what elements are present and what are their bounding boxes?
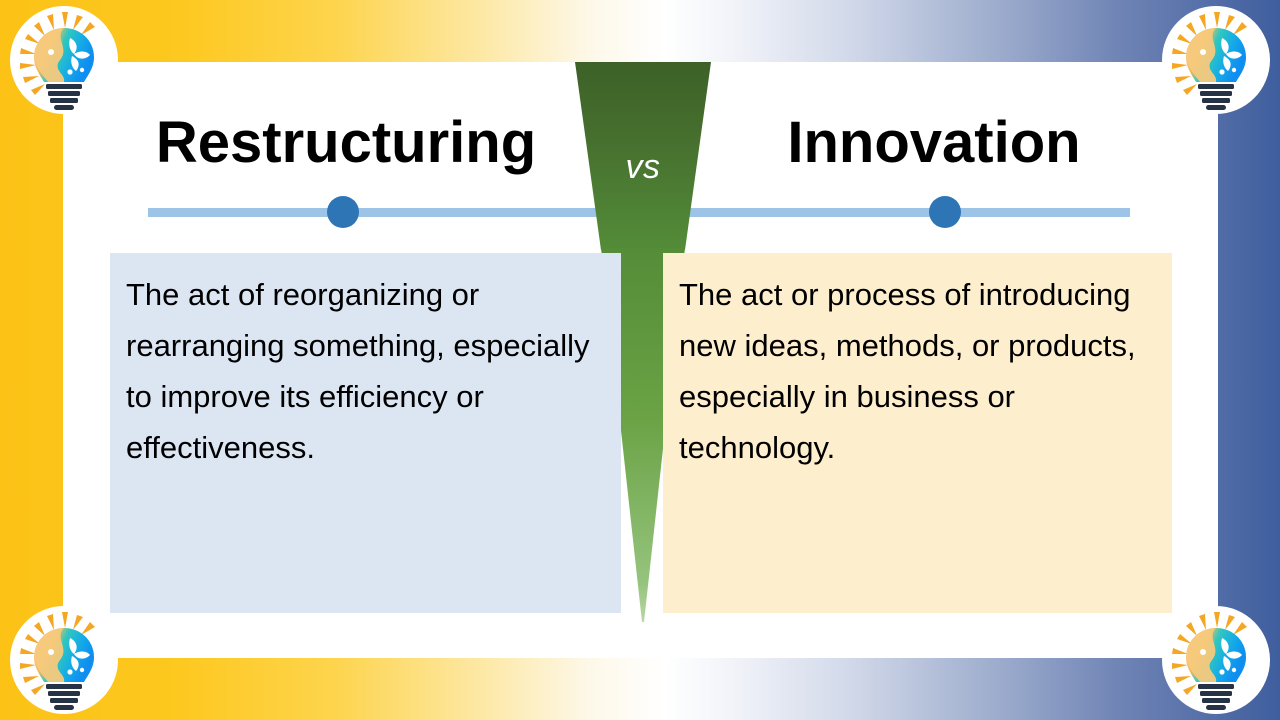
definition-box-right: The act or process of introducing new id… [663, 253, 1172, 613]
page-title-left: Restructuring [96, 108, 596, 178]
definition-text-right: The act or process of introducing new id… [679, 269, 1154, 473]
vs-label: vs [573, 150, 713, 184]
divider-dot-right [929, 196, 961, 228]
slide-canvas: Restructuring Innovation vs The act of r… [0, 0, 1280, 720]
lightbulb-sun-leaf-icon [8, 604, 120, 716]
divider-dot-left [327, 196, 359, 228]
definition-text-left: The act of reorganizing or rearranging s… [126, 269, 603, 473]
lightbulb-sun-leaf-icon [1160, 4, 1272, 116]
definition-box-left: The act of reorganizing or rearranging s… [110, 253, 621, 613]
page-title-right: Innovation [684, 108, 1184, 178]
lightbulb-sun-leaf-icon [1160, 604, 1272, 716]
lightbulb-sun-leaf-icon [8, 4, 120, 116]
